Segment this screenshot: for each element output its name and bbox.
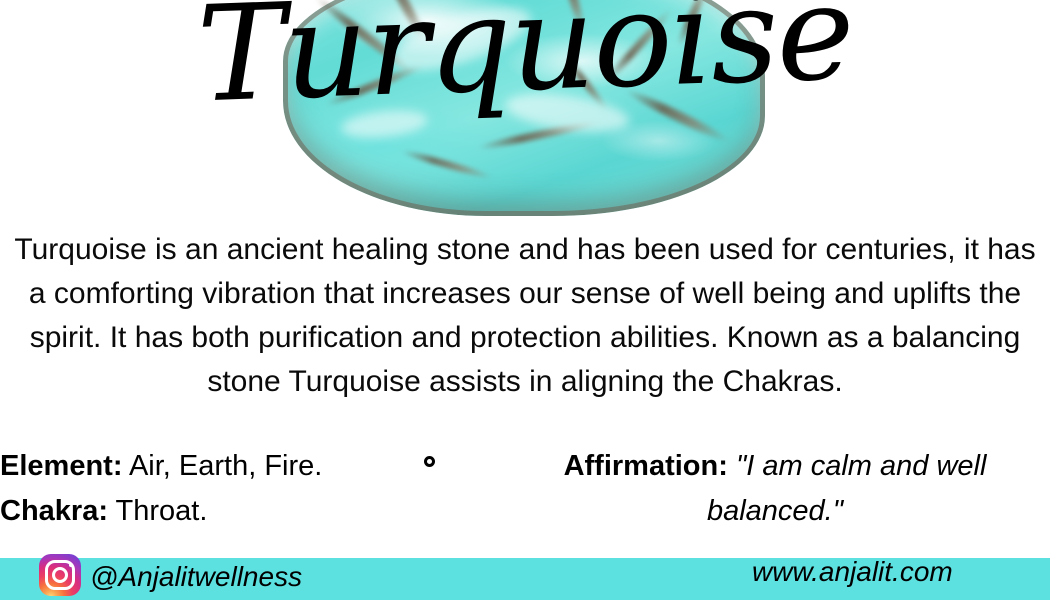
element-line: Element: Air, Earth, Fire. [0, 444, 420, 489]
element-value: Air, Earth, Fire. [129, 450, 322, 482]
instagram-icon[interactable] [39, 554, 81, 596]
chakra-value: Throat. [116, 495, 208, 527]
instagram-handle[interactable]: @Anjalitwellness [90, 561, 302, 593]
instagram-lens [52, 567, 68, 583]
footer-bar: @Anjalitwellness www.anjalit.com [0, 558, 1050, 600]
chakra-line: Chakra: Throat. [0, 489, 420, 534]
attributes-right-column: Affirmation: "I am calm and well balance… [500, 444, 1050, 534]
stone-description: Turquoise is an ancient healing stone an… [6, 228, 1044, 404]
affirmation-label: Affirmation: [564, 450, 728, 482]
affirmation-value: "I am calm and well balanced." [707, 450, 986, 527]
page-title: Turquoise [0, 0, 1050, 128]
instagram-flash-dot [69, 563, 73, 567]
hero-section: Turquoise [0, 0, 1050, 222]
chakra-label: Chakra: [0, 495, 108, 527]
website-url[interactable]: www.anjalit.com [752, 556, 953, 588]
turquoise-info-card: Turquoise Turquoise is an ancient healin… [0, 0, 1050, 600]
attributes-left-column: Element: Air, Earth, Fire. Chakra: Throa… [0, 444, 420, 534]
attributes-row: Element: Air, Earth, Fire. Chakra: Throa… [0, 444, 1050, 540]
stone-vein [400, 148, 495, 181]
circle-bullet-icon [424, 456, 435, 467]
element-label: Element: [0, 450, 122, 482]
